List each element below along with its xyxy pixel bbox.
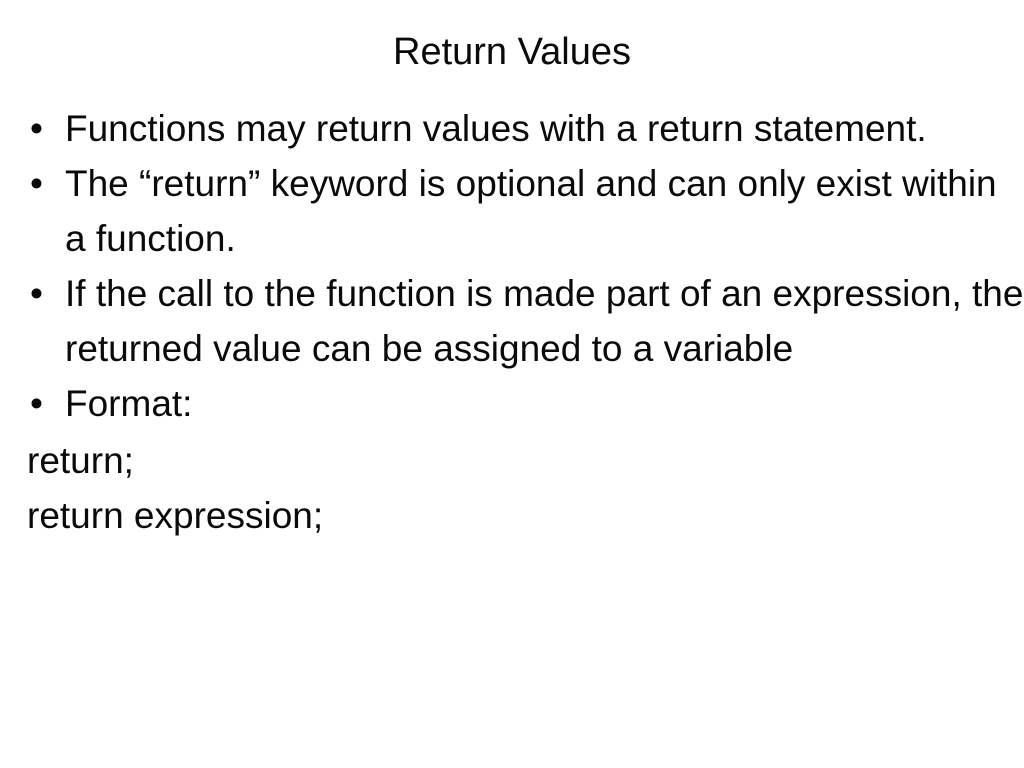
bullet-item-4: • Format: — [0, 376, 1024, 431]
bullet-text-2: The “return” keyword is optional and can… — [65, 156, 1024, 266]
slide-content: • Functions may return values with a ret… — [0, 101, 1024, 543]
bullet-item-3: • If the call to the function is made pa… — [0, 266, 1024, 376]
bullet-marker-icon: • — [30, 101, 52, 156]
page-title: Return Values — [0, 28, 1024, 76]
code-line-1: return; — [0, 433, 1024, 488]
bullet-marker-icon: • — [30, 266, 52, 321]
bullet-text-4: Format: — [65, 376, 1024, 431]
bullet-marker-icon: • — [30, 376, 52, 431]
slide-canvas: Return Values • Functions may return val… — [0, 0, 1024, 768]
bullet-text-3: If the call to the function is made part… — [65, 266, 1024, 376]
bullet-text-1: Functions may return values with a retur… — [65, 101, 1024, 156]
bullet-marker-icon: • — [30, 156, 52, 211]
bullet-item-1: • Functions may return values with a ret… — [0, 101, 1024, 156]
code-line-2: return expression; — [0, 488, 1024, 543]
bullet-item-2: • The “return” keyword is optional and c… — [0, 156, 1024, 266]
